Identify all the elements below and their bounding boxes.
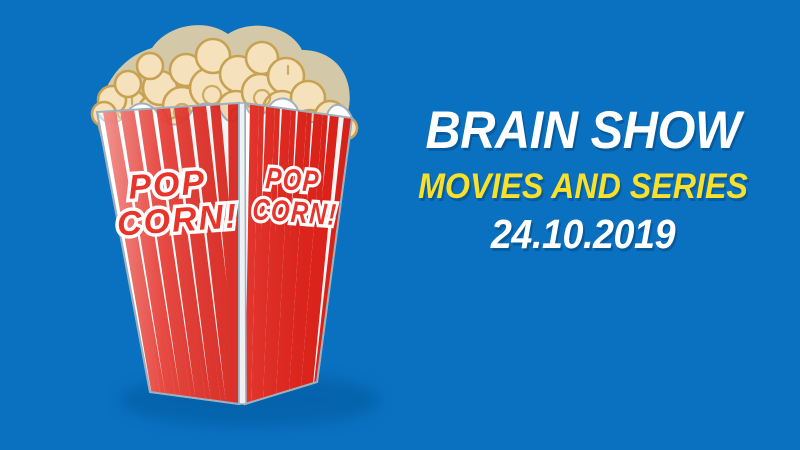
page-title: BRAIN SHOW (404, 104, 763, 157)
poster-subtitle: MOVIES AND SERIES (404, 169, 763, 204)
poster-text-block: BRAIN SHOW MOVIES AND SERIES 24.10.2019 (388, 104, 778, 255)
popcorn-box-left-face (90, 95, 250, 415)
popcorn-illustration: POP CORN! POP CORN! (0, 0, 420, 450)
poster-canvas: POP CORN! POP CORN! BRAIN SHOW MOVIES AN… (0, 0, 800, 450)
popcorn-box-right-face (240, 95, 370, 415)
event-date: 24.10.2019 (404, 214, 763, 255)
popcorn-label-side-line1: POP (264, 161, 321, 198)
popcorn-box-corner-seam (239, 103, 246, 404)
popcorn-label-side-line2: CORN! (251, 193, 338, 232)
